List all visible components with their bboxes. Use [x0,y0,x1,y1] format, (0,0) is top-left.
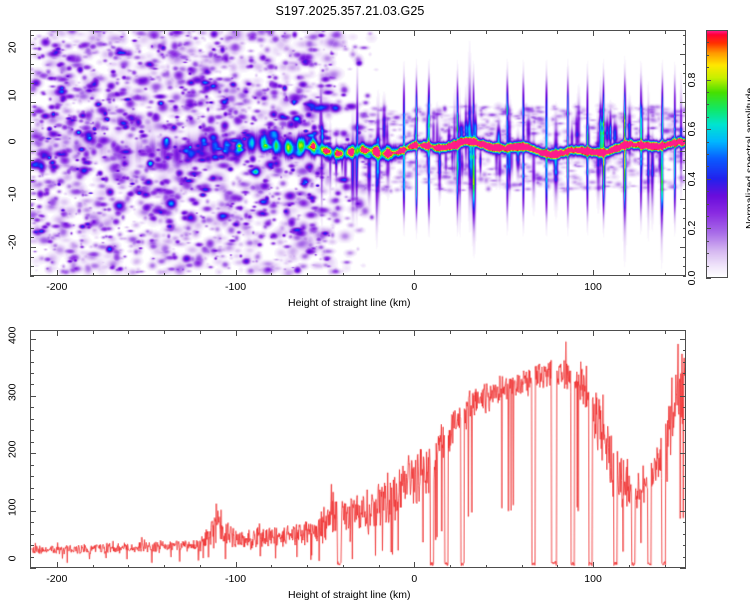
x-tick-minor [128,273,129,277]
y-tick-minor-right [680,247,686,248]
colorbar-tick [706,142,709,143]
colorbar-gradient [707,31,727,277]
x-tick-minor-top [486,30,487,34]
y-tick-minor [30,54,36,55]
x-tick-minor [486,565,487,569]
y-tick-minor-right [683,141,687,142]
x-tick-minor [343,273,344,277]
y-tick-minor-right [683,44,687,45]
x-tick-minor [271,273,272,277]
colorbar-tick [706,129,711,130]
colorbar-tick [706,179,711,180]
y-tick-minor [30,218,34,219]
colorbar-tick [706,241,709,242]
x-tick-minor-top [164,330,165,334]
x-tick-minor [557,273,558,277]
y-tick-minor [30,228,34,229]
snr-plot-area [31,331,685,567]
y-tick-minor [30,430,34,431]
y-tick-minor [30,522,34,523]
x-tick-minor-top [57,330,58,336]
x-tick-label: 100 [584,281,602,293]
x-tick-minor [271,565,272,569]
colorbar-tick-label: 0.2 [686,218,698,238]
colorbar-tick-label: 0.4 [686,169,698,189]
y-tick-minor-right [680,396,686,397]
y-tick-minor-right [683,545,687,546]
y-tick-minor-right [680,199,686,200]
x-tick-label: 0 [411,573,417,585]
x-tick-minor-top [93,330,94,334]
x-tick-minor [57,562,58,568]
x-tick-minor-top [307,30,308,34]
colorbar-tick [706,228,711,229]
y-tick-label: 20 [7,42,19,67]
y-tick-minor [30,362,34,363]
y-tick-label: 300 [7,383,19,408]
x-tick-minor [200,273,201,277]
y-tick-label: -20 [7,235,19,260]
x-tick-minor-top [236,30,237,36]
x-tick-minor-top [593,330,594,336]
x-tick-label: 100 [584,573,602,585]
colorbar-tick [706,204,709,205]
x-tick-minor [665,565,666,569]
x-tick-minor [307,565,308,569]
colorbar-tick [706,154,709,155]
y-tick-label: -10 [7,186,19,211]
y-tick-minor-right [683,557,687,558]
colorbar-tick [706,191,709,192]
colorbar-tick [706,67,709,68]
x-tick-minor-top [379,30,380,34]
y-tick-minor [30,83,34,84]
y-tick-minor [30,93,34,94]
y-tick-minor-right [680,54,686,55]
y-tick-minor [30,237,34,238]
x-tick-minor-top [450,30,451,34]
x-tick-minor-top [665,30,666,34]
x-tick-minor-top [128,330,129,334]
x-tick-minor [164,565,165,569]
y-tick-minor-right [683,64,687,65]
y-tick-minor [30,160,34,161]
x-tick-minor [629,565,630,569]
colorbar-tick [706,278,711,279]
x-tick-minor-top [522,30,523,34]
snr-line-series [31,331,685,567]
y-tick-minor-right [683,488,687,489]
x-tick-minor-top [414,30,415,36]
y-tick-minor-right [680,102,686,103]
colorbar-tick [706,42,709,43]
y-tick-minor [30,396,36,397]
x-tick-minor-top [236,330,237,336]
x-tick-minor [522,565,523,569]
y-tick-minor [30,476,34,477]
y-tick-minor [30,511,36,512]
y-tick-minor-right [683,350,687,351]
y-tick-label: 0 [7,138,19,163]
x-tick-minor [665,273,666,277]
x-tick-minor-top [200,330,201,334]
y-tick-minor [30,465,34,466]
y-tick-label: 100 [7,498,19,523]
snr-panel [30,330,686,568]
y-tick-minor [30,534,34,535]
y-tick-minor [30,276,34,277]
figure-title: S197.2025.357.21.03.G25 [0,4,700,18]
y-tick-minor-right [683,257,687,258]
y-tick-minor-right [680,511,686,512]
x-tick-label: 0 [411,281,417,293]
colorbar-tick-label: 0.8 [686,70,698,90]
y-tick-minor-right [683,522,687,523]
x-tick-minor-top [271,30,272,34]
y-tick-label: 10 [7,90,19,115]
colorbar-tick [706,80,711,81]
y-tick-minor-right [683,534,687,535]
y-tick-minor-right [680,151,686,152]
x-tick-minor [307,273,308,277]
x-tick-minor [200,565,201,569]
x-tick-minor [236,270,237,276]
x-tick-minor [522,273,523,277]
y-tick-minor-right [683,160,687,161]
x-tick-minor [128,565,129,569]
spectrogram-image [31,31,685,275]
colorbar-tick [706,166,709,167]
x-tick-minor [379,273,380,277]
y-tick-minor [30,189,34,190]
x-tick-minor [343,565,344,569]
x-tick-label: -200 [46,573,67,585]
x-tick-label: -100 [225,281,246,293]
y-tick-minor [30,102,36,103]
y-tick-minor [30,499,34,500]
x-tick-minor [236,562,237,568]
y-tick-minor [30,199,36,200]
y-tick-minor-right [683,430,687,431]
colorbar-tick [706,117,709,118]
x-tick-minor-top [414,330,415,336]
y-tick-minor-right [683,419,687,420]
y-tick-minor [30,339,36,340]
y-tick-minor [30,384,34,385]
x-tick-minor-top [629,330,630,334]
x-tick-minor-top [379,330,380,334]
y-tick-minor [30,257,34,258]
x-tick-minor-top [57,30,58,36]
y-tick-minor [30,141,34,142]
y-tick-label: 0 [7,556,19,581]
y-tick-minor [30,170,34,171]
y-tick-label: 200 [7,441,19,466]
x-tick-minor-top [343,330,344,334]
y-tick-minor-right [683,499,687,500]
y-tick-minor [30,64,34,65]
x-tick-minor-top [522,330,523,334]
x-tick-minor-top [665,330,666,334]
x-tick-label: -100 [225,573,246,585]
y-tick-minor-right [683,35,687,36]
y-tick-minor-right [680,453,686,454]
spectrogram-panel [30,30,686,276]
x-tick-minor-top [128,30,129,34]
x-tick-minor [557,565,558,569]
y-tick-minor-right [683,465,687,466]
x-tick-label: -200 [46,281,67,293]
colorbar-tick [706,55,709,56]
x-tick-minor [57,270,58,276]
y-tick-minor [30,488,34,489]
colorbar-tick-label: 0.0 [686,268,698,288]
y-tick-minor [30,266,34,267]
y-tick-minor [30,73,34,74]
x-tick-minor-top [557,330,558,334]
x-tick-minor-top [164,30,165,34]
y-tick-minor-right [683,373,687,374]
y-tick-minor [30,557,34,558]
y-tick-minor-right [683,442,687,443]
x-tick-minor-top [486,330,487,334]
x-tick-minor-top [307,330,308,334]
colorbar-label: Normalized spectral amplitude [744,88,750,229]
y-tick-minor-right [683,476,687,477]
x-tick-minor-top [593,30,594,36]
colorbar-tick [706,30,709,31]
colorbar-tick [706,92,709,93]
x-tick-minor-top [629,30,630,34]
x-tick-minor [629,273,630,277]
y-tick-minor [30,35,34,36]
colorbar [706,30,728,278]
colorbar-tick [706,104,709,105]
colorbar-tick [706,216,709,217]
y-tick-label: 400 [7,326,19,351]
x-tick-minor [450,565,451,569]
x-tick-minor [93,273,94,277]
x-tick-minor [486,273,487,277]
spectrogram-plot-area [31,31,685,275]
y-tick-minor-right [680,568,686,569]
figure-root: S197.2025.357.21.03.G25 -200-1000100-20-… [0,0,750,600]
x-tick-minor-top [557,30,558,34]
x-tick-minor-top [450,330,451,334]
y-tick-minor [30,131,34,132]
colorbar-tick [706,266,709,267]
spectrogram-x-axis-label: Height of straight line (km) [288,297,411,309]
x-tick-minor [164,273,165,277]
x-tick-minor [379,565,380,569]
y-tick-minor [30,208,34,209]
y-tick-minor-right [683,384,687,385]
x-tick-minor-top [271,330,272,334]
y-tick-minor [30,373,34,374]
colorbar-tick [706,253,709,254]
x-tick-minor-top [343,30,344,34]
y-tick-minor [30,453,36,454]
y-tick-minor-right [683,112,687,113]
x-tick-minor [593,562,594,568]
colorbar-tick-label: 0.6 [686,119,698,139]
y-tick-minor-right [683,189,687,190]
y-tick-minor-right [683,407,687,408]
y-tick-minor [30,247,36,248]
x-tick-minor-top [200,30,201,34]
x-tick-minor [414,562,415,568]
y-tick-minor [30,151,36,152]
y-tick-minor [30,122,34,123]
y-tick-minor [30,180,34,181]
y-tick-minor-right [683,362,687,363]
y-tick-minor [30,44,34,45]
x-tick-minor [593,270,594,276]
y-tick-minor [30,112,34,113]
y-tick-minor [30,419,34,420]
x-tick-minor [93,565,94,569]
y-tick-minor [30,442,34,443]
y-tick-minor [30,350,34,351]
y-tick-minor-right [680,339,686,340]
y-tick-minor-right [683,93,687,94]
snr-x-axis-label: Height of straight line (km) [288,589,411,601]
x-tick-minor [450,273,451,277]
x-tick-minor-top [93,30,94,34]
x-tick-minor [414,270,415,276]
y-tick-minor [30,568,36,569]
y-tick-minor [30,545,34,546]
y-tick-minor [30,407,34,408]
y-tick-minor-right [683,208,687,209]
